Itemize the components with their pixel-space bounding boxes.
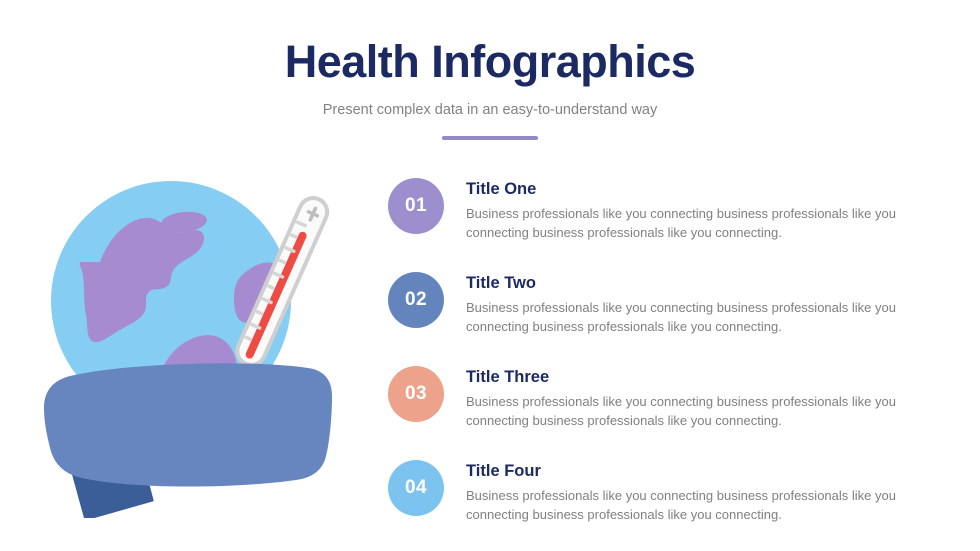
item-title: Title One bbox=[466, 178, 948, 200]
item-content: Title Four Business professionals like y… bbox=[466, 458, 948, 524]
item-description: Business professionals like you connecti… bbox=[466, 298, 936, 336]
item-content: Title Two Business professionals like yo… bbox=[466, 270, 948, 336]
page-title: Health Infographics bbox=[0, 36, 980, 88]
item-description: Business professionals like you connecti… bbox=[466, 392, 936, 430]
item-content: Title One Business professionals like yo… bbox=[466, 176, 948, 242]
item-title: Title Two bbox=[466, 272, 948, 294]
item-description: Business professionals like you connecti… bbox=[466, 204, 936, 242]
item-number-badge: 01 bbox=[388, 178, 444, 234]
infographic-list: 01 Title One Business professionals like… bbox=[388, 176, 948, 524]
scarf-band-icon bbox=[44, 363, 332, 486]
item-content: Title Three Business professionals like … bbox=[466, 364, 948, 430]
item-description: Business professionals like you connecti… bbox=[466, 486, 936, 524]
title-divider bbox=[442, 136, 538, 140]
list-item[interactable]: 03 Title Three Business professionals li… bbox=[388, 364, 948, 430]
item-number-badge: 04 bbox=[388, 460, 444, 516]
infographic-slide: Health Infographics Present complex data… bbox=[0, 0, 980, 551]
globe-with-scarf-and-thermometer-illustration bbox=[38, 158, 358, 518]
item-number-badge: 03 bbox=[388, 366, 444, 422]
list-item[interactable]: 04 Title Four Business professionals lik… bbox=[388, 458, 948, 524]
item-title: Title Three bbox=[466, 366, 948, 388]
slide-header: Health Infographics Present complex data… bbox=[0, 36, 980, 140]
list-item[interactable]: 01 Title One Business professionals like… bbox=[388, 176, 948, 242]
item-title: Title Four bbox=[466, 460, 948, 482]
item-number-badge: 02 bbox=[388, 272, 444, 328]
list-item[interactable]: 02 Title Two Business professionals like… bbox=[388, 270, 948, 336]
page-subtitle: Present complex data in an easy-to-under… bbox=[0, 100, 980, 120]
